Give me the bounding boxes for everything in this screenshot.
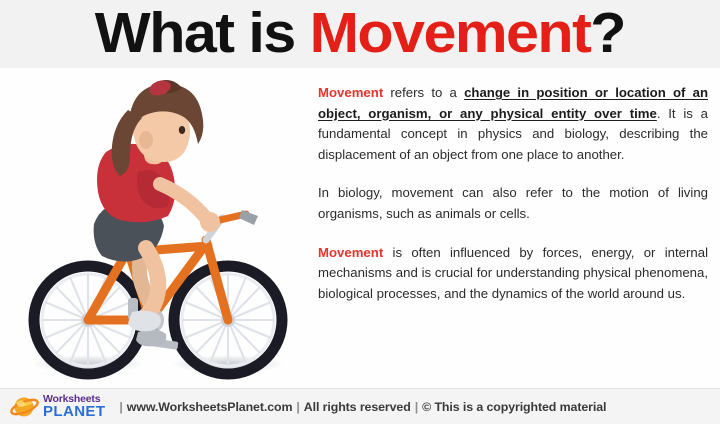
keyword-movement-1: Movement: [318, 85, 383, 100]
worksheets-planet-logo[interactable]: Worksheets PLANET: [10, 394, 105, 420]
paragraph-3: Movement is often influenced by forces, …: [318, 243, 708, 305]
footer-separator-1: |: [115, 400, 126, 414]
page-title: What is Movement?: [95, 3, 625, 63]
paragraph-2: In biology, movement can also refer to t…: [318, 183, 708, 224]
rider-near-shoe: [128, 311, 161, 332]
page-header: What is Movement?: [0, 0, 720, 68]
rider-eye: [179, 126, 185, 134]
footer-credits: |www.WorksheetsPlanet.com|All rights res…: [115, 400, 606, 414]
paragraph-1-lead: refers to a: [383, 85, 464, 100]
footer-copyright-text: This is a copyrighted material: [434, 400, 606, 414]
keyword-movement-2: Movement: [318, 245, 383, 260]
rider-hand: [200, 212, 220, 232]
definition-text: Movement refers to a change in position …: [318, 83, 708, 304]
title-part-movement: Movement: [310, 1, 591, 65]
planet-icon: [10, 394, 40, 420]
footer-rights: All rights reserved: [304, 400, 411, 414]
worksheet-page: What is Movement?: [0, 0, 720, 424]
logo-wordmark: Worksheets PLANET: [43, 394, 105, 420]
paragraph-1: Movement refers to a change in position …: [318, 83, 708, 165]
title-part-what-is: What is: [95, 1, 310, 65]
logo-planet-text: PLANET: [43, 404, 105, 419]
rider-far-shoe: [136, 329, 166, 346]
rider: [94, 78, 220, 346]
rider-ear: [139, 131, 153, 149]
footer-separator-2: |: [292, 400, 303, 414]
title-question-mark: ?: [590, 1, 625, 65]
footer-separator-3: |: [411, 400, 422, 414]
footer-website[interactable]: www.WorksheetsPlanet.com: [127, 400, 293, 414]
cyclist-illustration: [10, 68, 310, 388]
page-body: Movement refers to a change in position …: [0, 68, 720, 388]
page-footer: Worksheets PLANET |www.WorksheetsPlanet.…: [0, 388, 720, 424]
copyright-icon: ©: [422, 400, 431, 414]
